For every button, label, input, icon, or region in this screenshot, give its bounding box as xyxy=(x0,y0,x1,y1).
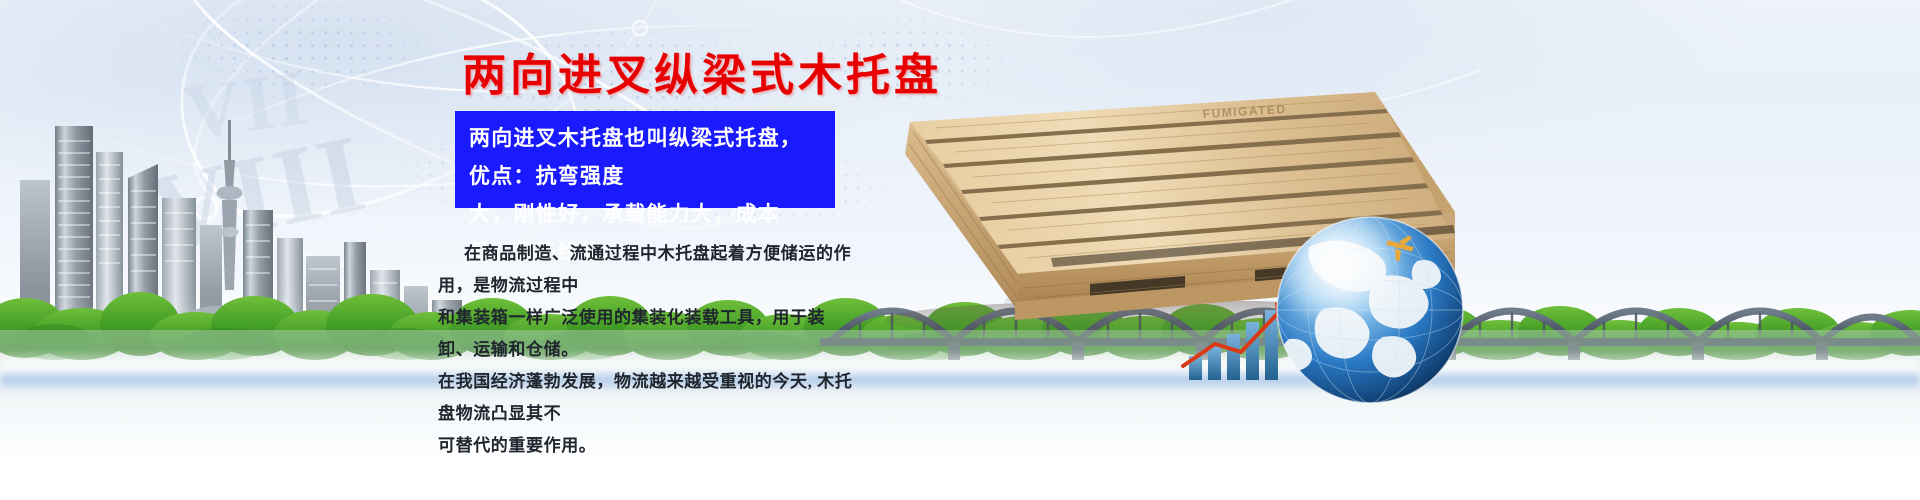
water-blue-band xyxy=(0,368,1920,392)
body-line-4: 可替代的重要作用。 xyxy=(438,430,858,462)
highlight-callout-box: 两向进叉木托盘也叫纵梁式托盘，优点：抗弯强度 大，刚性好，承载能力大，成本低，易… xyxy=(455,111,835,208)
body-description: 在商品制造、流通过程中木托盘起着方便储运的作用，是物流过程中 和集装箱一样广泛使… xyxy=(438,238,858,462)
body-line-2: 和集装箱一样广泛使用的集装化装载工具，用于装卸、运输和仓储。 xyxy=(438,302,858,366)
bottom-fade xyxy=(0,440,1920,500)
body-line-3: 在我国经济蓬勃发展，物流越来越受重视的今天, 木托盘物流凸显其不 xyxy=(438,366,858,430)
highlight-line-1: 两向进叉木托盘也叫纵梁式托盘，优点：抗弯强度 xyxy=(469,119,823,195)
promo-banner: VIII VII IX X xyxy=(0,0,1920,500)
globe-3d-illustration xyxy=(1265,205,1475,415)
page-title: 两向进叉纵梁式木托盘 xyxy=(462,52,942,100)
body-line-1: 在商品制造、流通过程中木托盘起着方便储运的作用，是物流过程中 xyxy=(438,238,858,302)
